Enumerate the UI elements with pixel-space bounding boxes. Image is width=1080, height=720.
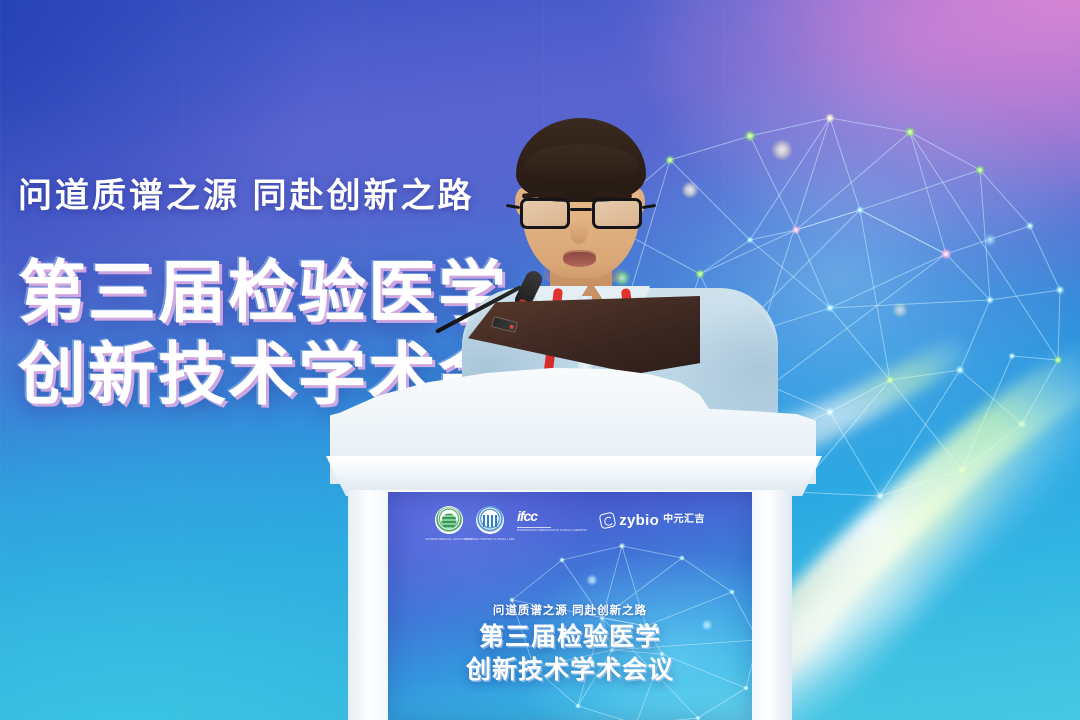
podium-tagline: 问道质谱之源 同赴创新之路 — [388, 602, 752, 618]
podium-right-edge — [752, 490, 792, 720]
zybio-wordmark: zybio — [619, 513, 659, 528]
thinkpad-badge-icon — [492, 317, 516, 331]
podium-left-edge — [348, 490, 388, 720]
zybio-logo: zybio 中元汇吉 — [600, 513, 705, 528]
blue-institute-emblem-icon: NATIONAL CENTER CLINICAL LABS — [476, 506, 504, 534]
glasses-lens-left — [520, 198, 570, 229]
podium: CHINESE MEDICAL ASSOCIATION NATIONAL CEN… — [330, 352, 816, 720]
speaker-nose — [570, 222, 588, 244]
zybio-swirl-icon — [599, 511, 617, 529]
ifcc-logo: ifcc INTERNATIONAL FEDERATION OF CLINICA… — [517, 508, 587, 533]
speaker-chin-shading — [544, 262, 620, 288]
ifcc-wordmark: ifcc — [517, 508, 537, 524]
podium-headline-line1: 第三届检验医学 — [388, 625, 752, 650]
green-globe-emblem-icon: CHINESE MEDICAL ASSOCIATION — [435, 506, 463, 534]
podium-printed-panel: CHINESE MEDICAL ASSOCIATION NATIONAL CEN… — [388, 492, 752, 720]
glasses-temple-right — [642, 204, 656, 209]
podium-headline-line2: 创新技术学术会议 — [388, 658, 752, 683]
glasses-lens-right — [592, 198, 642, 229]
glasses-temple-left — [506, 204, 520, 209]
podium-logo-row: CHINESE MEDICAL ASSOCIATION NATIONAL CEN… — [388, 506, 752, 534]
blue-institute-emblem-caption: NATIONAL CENTER CLINICAL LABS — [465, 538, 515, 541]
conference-photo-scene: 问道质谱之源 同赴创新之路 第三届检验医学 创新技术学术会议 — [0, 0, 1080, 720]
zybio-wordmark-cn: 中元汇吉 — [663, 515, 705, 525]
ifcc-rule — [517, 527, 551, 528]
speaker-hair — [516, 118, 646, 202]
ifcc-caption: INTERNATIONAL FEDERATION OF CLINICAL CHE… — [517, 529, 587, 533]
glasses-bridge — [570, 208, 592, 211]
